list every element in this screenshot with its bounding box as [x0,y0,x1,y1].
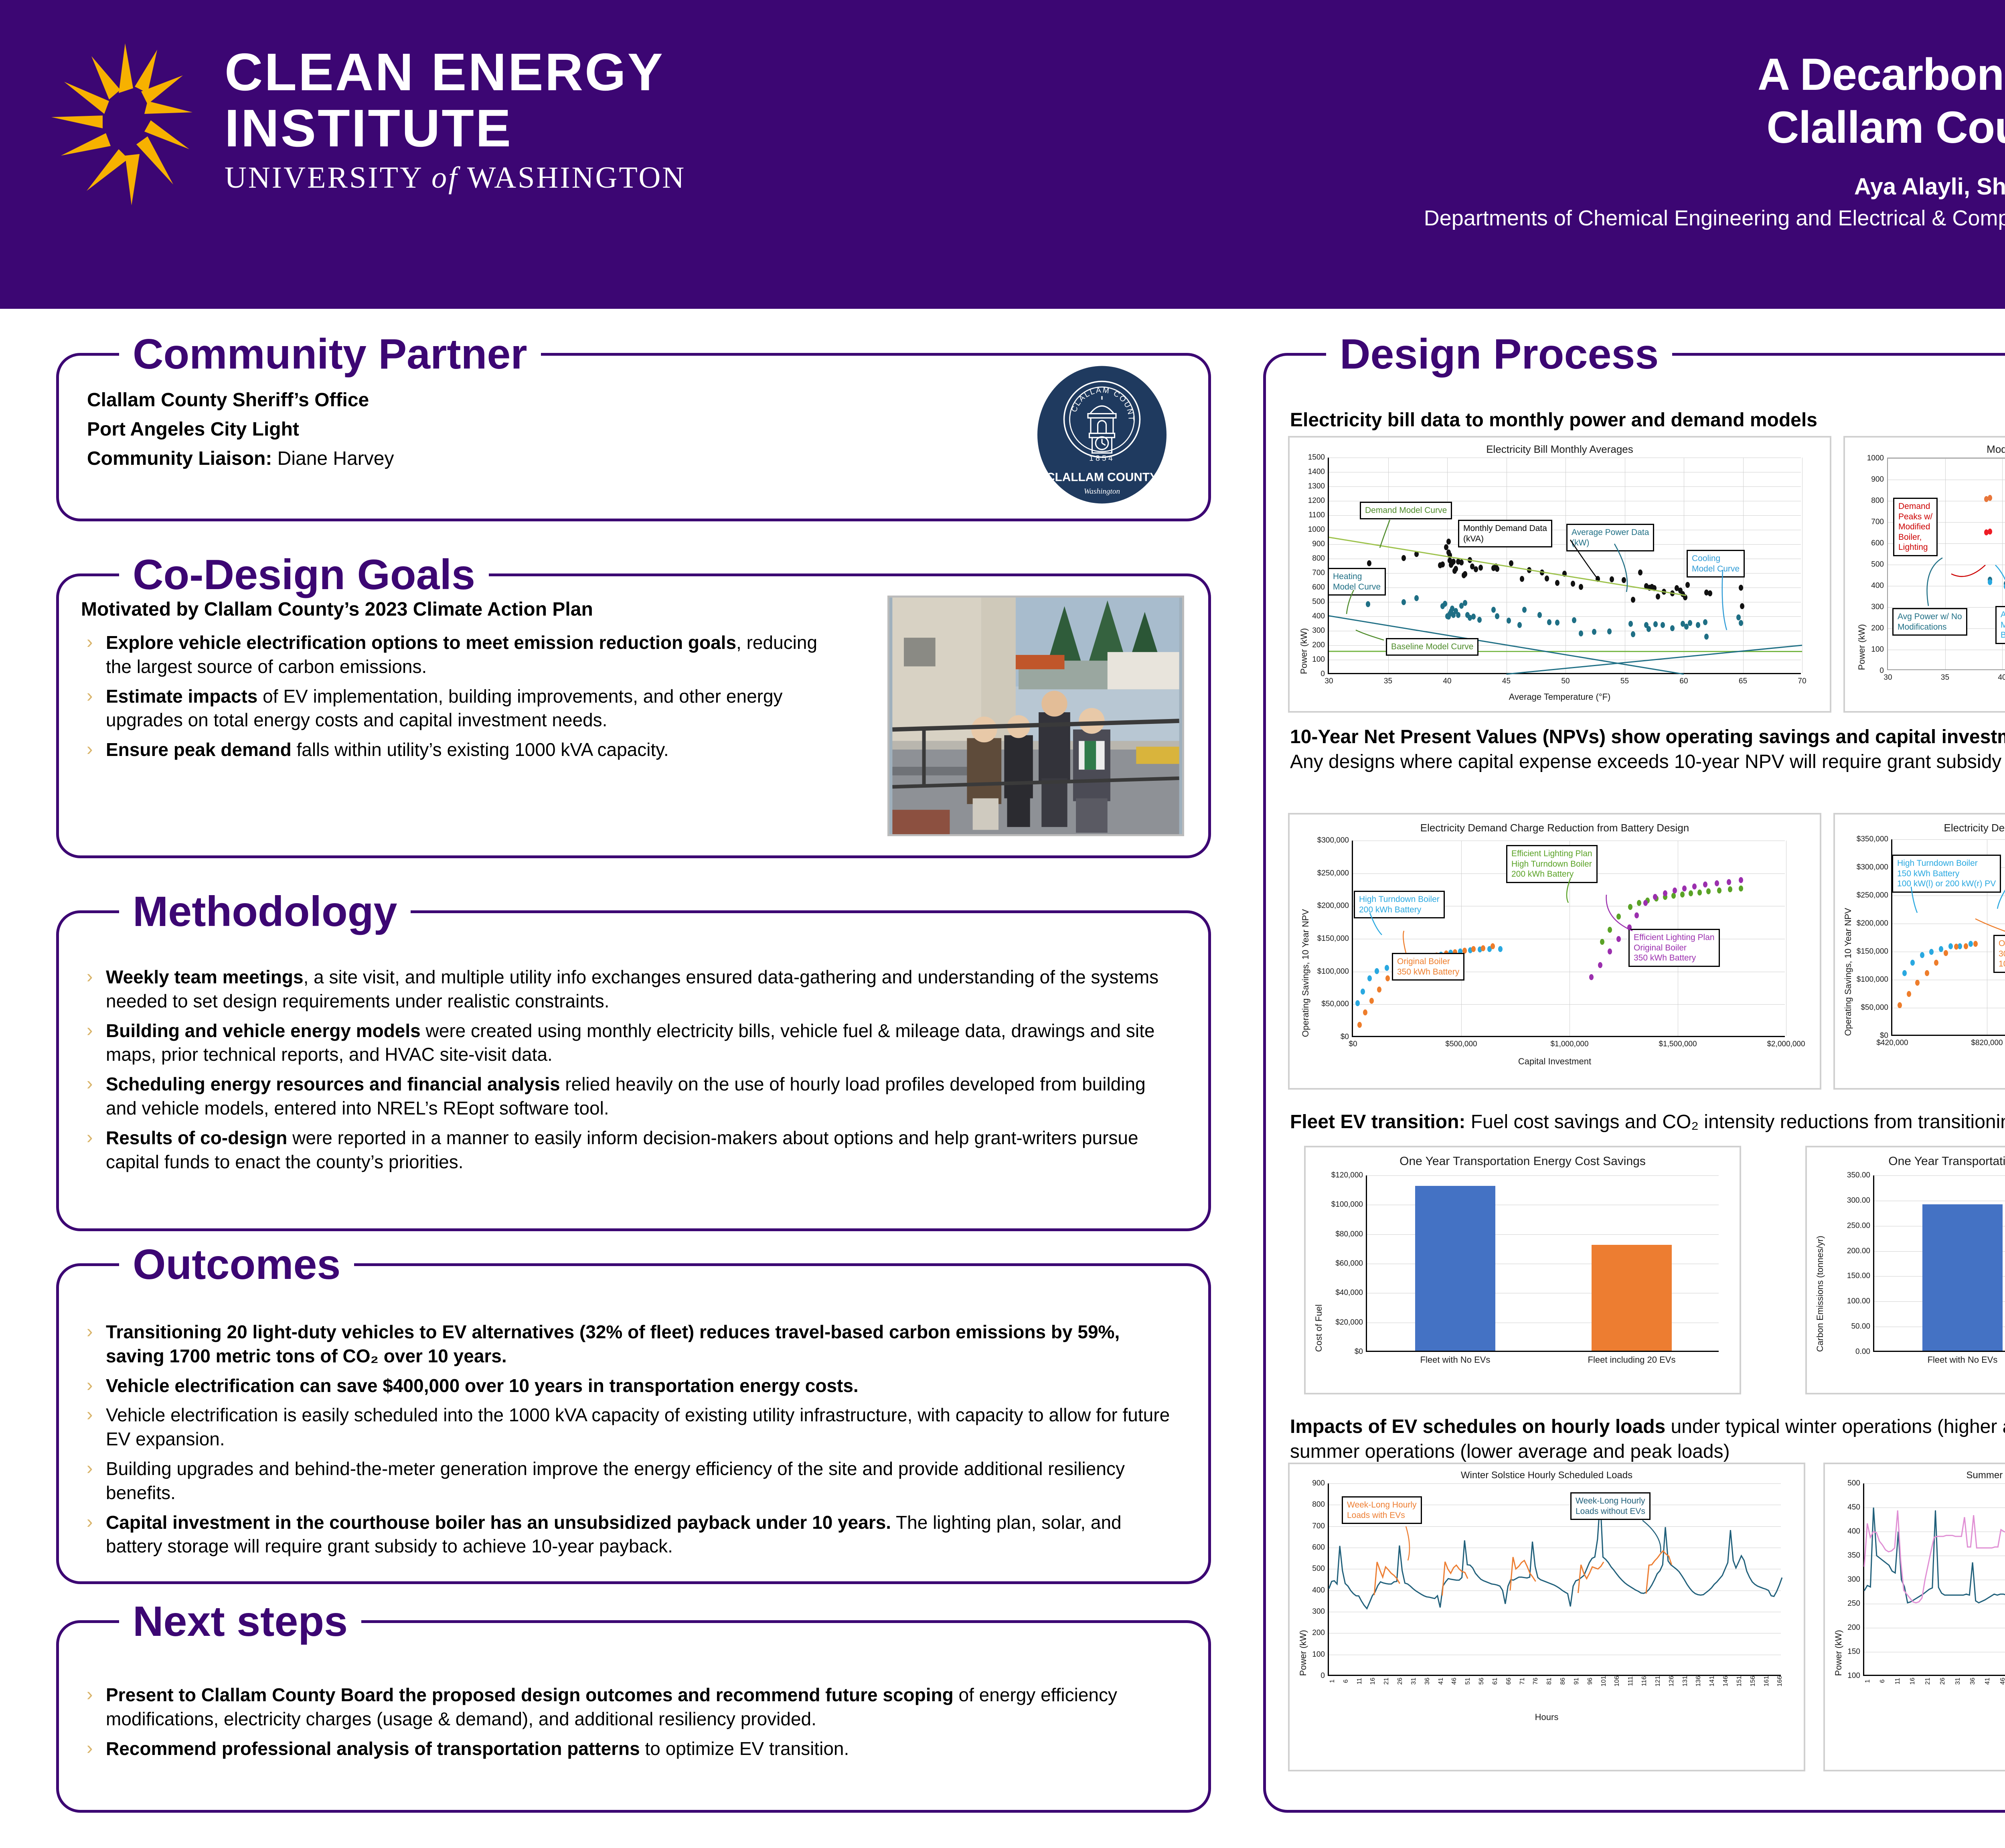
chart-callout: High Turndown Boiler 150 kWh Battery 100… [1892,855,2001,893]
y-tick-label: 900 [1312,540,1325,549]
y-axis-label: Carbon Emissions (tonnes/yr) [1815,1236,1825,1352]
y-tick-label: 400 [1312,1586,1325,1595]
x-tick-label: 121 [1655,1676,1662,1687]
y-tick-label: $150,000 [1857,947,1888,956]
chart-title: One Year Transportation Energy Cost Savi… [1306,1155,1740,1168]
y-axis-label: Power (kW) [1857,624,1867,670]
data-point [1988,579,1992,585]
gridline [1329,544,1801,545]
gridline [1329,1569,1781,1569]
x-tick-label: 111 [1627,1676,1634,1686]
svg-text:Washington: Washington [1084,487,1120,496]
gridline [1329,631,1801,631]
x-tick-label: 40 [1998,673,2005,682]
co-design-bullet-list: ›Explore vehicle electrification options… [81,631,843,762]
y-tick-label: 200 [1312,1629,1325,1637]
list-item: ›Scheduling energy resources and financi… [81,1072,1180,1121]
data-point [1547,619,1551,625]
data-point [1703,619,1707,625]
data-point [1471,614,1476,620]
y-tick-label: 1100 [1308,511,1325,520]
gridline [1329,616,1801,617]
data-point [1988,495,1992,501]
gridline [1888,458,2005,459]
data-point [1934,960,1938,966]
data-point [1647,626,1651,632]
y-tick-label: $300,000 [1857,863,1888,872]
data-point [1628,904,1632,910]
institute-name: CLEAN ENERGY INSTITUTE [225,44,826,156]
y-tick-label: 1500 [1308,453,1325,462]
data-point [1628,621,1633,627]
data-point [1610,576,1614,582]
x-tick-label: 35 [1941,673,1949,682]
y-tick-label: 300 [1871,603,1884,612]
x-tick-label: 141 [1709,1676,1716,1687]
y-tick-label: 1300 [1308,482,1325,491]
chart-demand-usage-charge-reduction-battery-pv: Electricity Demand & Usage Charge Reduct… [1833,813,2005,1090]
chart-title: Winter Solstice Hourly Scheduled Loads [1290,1470,1804,1481]
data-point [1491,943,1495,949]
gridline [1888,650,2005,650]
chart-callout: Avg Power w/ No Modifications [1892,608,1967,636]
svg-text:1854: 1854 [1089,454,1115,463]
chart-demand-charge-reduction-battery: Electricity Demand Charge Reduction from… [1288,813,1821,1090]
methodology-bullet-list: ›Weekly team meetings, a site visit, and… [81,965,1180,1174]
data-point [1670,625,1675,631]
data-point [1589,974,1594,980]
caption-bold: 10-Year Net Present Values (NPVs) show o… [1290,726,2005,748]
bullet-bold: Vehicle electrification can save $400,00… [106,1375,859,1396]
gridline [1566,458,1566,673]
data-point [1361,989,1365,995]
data-point [1622,577,1626,583]
x-tick-label: 116 [1641,1676,1648,1686]
y-tick-label: 100 [1312,655,1325,664]
x-tick-label: 46 [1451,1678,1458,1685]
gridline [1329,458,1801,458]
data-point [1680,892,1685,898]
x-tick-label: $820,000 [1971,1039,2003,1048]
x-tick-label: 36 [1424,1678,1431,1685]
x-tick-label: $500,000 [1445,1040,1477,1049]
x-tick-label: 156 [1750,1676,1757,1687]
gridline [1888,565,2005,565]
data-point [1915,980,1920,986]
caption-electricity-bill-models: Electricity bill data to monthly power a… [1290,408,2005,433]
y-tick-label: 500 [1312,1564,1325,1573]
data-point [1440,561,1445,567]
data-point [1944,950,1948,956]
gridline [1507,458,1507,673]
chart-callout: High Turndown Boiler 200 kWh Battery [1354,891,1445,918]
gridline [1892,839,2005,840]
gridline [1329,588,1801,588]
chevron-right-icon: › [87,965,93,989]
x-tick-label: 11 [1356,1678,1363,1685]
gridline [1684,458,1684,673]
data-point [1685,582,1690,588]
y-tick-label: 450 [1847,1503,1860,1512]
x-tick-label: 101 [1600,1676,1608,1687]
data-point [1463,571,1467,577]
x-axis-label: Capital Investment [1835,1055,2005,1066]
y-tick-label: 0 [1320,670,1325,679]
y-tick-label: 500 [1847,1479,1860,1488]
data-point [1495,566,1499,572]
panel-design-process: Design Process Electricity bill data to … [1263,353,2005,1813]
x-tick-label: 166 [1776,1676,1784,1687]
x-tick-label: 30 [1883,673,1892,682]
chevron-right-icon: › [87,1319,93,1343]
data-point [1637,900,1641,906]
gridline [1329,501,1801,501]
gridline [1802,458,1802,673]
data-point [1357,1022,1362,1028]
data-point [1696,622,1700,628]
data-point [1643,900,1648,906]
y-axis-label: Operating Savings, 10 Year NPV [1300,909,1311,1037]
data-point [1509,560,1513,566]
panel-heading-outcomes: Outcomes [119,1241,354,1288]
data-point [1739,885,1743,892]
data-point [1739,877,1743,883]
data-point [1652,585,1657,591]
gridline [1329,1591,1781,1591]
chart-callout: Original Boiler 300 kWh Battery 100 kW(l… [1993,935,2005,973]
bullet-bold: Estimate impacts [106,686,257,707]
next-steps-content: ›Present to Clallam County Board the pro… [81,1683,1180,1766]
y-axis-label: Power (kW) [1298,1630,1308,1676]
x-tick-label: 6 [1879,1680,1886,1683]
y-tick-label: 100.00 [1847,1297,1870,1306]
data-point [1727,879,1731,885]
x-tick-label: 36 [1969,1678,1977,1685]
x-tick-label: 131 [1682,1676,1689,1687]
page-title: A Decarbonization Blueprint for Clallam … [1116,48,2005,154]
gridline [1888,586,2005,586]
chevron-right-icon: › [87,1125,93,1149]
data-point [1948,943,1953,949]
data-point [1367,975,1372,981]
y-tick-label: 1000 [1867,454,1884,463]
list-item: ›Weekly team meetings, a site visit, and… [81,965,1180,1013]
y-tick-label: $100,000 [1331,1200,1363,1209]
gridline [1329,1548,1781,1548]
title-block: A Decarbonization Blueprint for Clallam … [1116,48,2005,231]
chart-callout: Original Boiler 350 kWh Battery [1392,953,1464,981]
data-point [1355,1000,1360,1006]
data-point [1662,589,1666,595]
y-axis-label: Power (kW) [1299,628,1309,674]
bullet-bold: Explore vehicle electrification options … [106,632,736,653]
x-tick-label: 106 [1614,1676,1621,1687]
y-tick-label: 500 [1871,560,1884,569]
data-point [1736,614,1741,620]
data-point [1920,952,1924,958]
y-tick-label: $150,000 [1317,934,1349,943]
institute-line-1: CLEAN ENERGY [225,44,826,100]
x-tick-label: $420,000 [1876,1039,1908,1048]
x-tick-label: 81 [1546,1678,1553,1685]
x-tick-label: 66 [1505,1678,1513,1685]
y-tick-label: 100 [1847,1672,1860,1680]
y-tick-label: 300 [1847,1575,1860,1584]
x-tick-label: $1,500,000 [1659,1040,1697,1049]
x-tick-label: 91 [1573,1678,1580,1685]
data-point [1704,634,1709,640]
data-point [1670,590,1675,596]
data-point [1459,559,1464,565]
panel-outcomes: Outcomes ›Transitioning 20 light-duty ve… [56,1263,1211,1584]
y-tick-label: 100 [1312,1650,1325,1659]
y-tick-label: 600 [1312,1543,1325,1552]
data-point [1520,576,1524,582]
data-point [1663,890,1667,896]
gridline [1864,1508,2005,1508]
y-tick-label: 400 [1312,612,1325,621]
bar [1415,1186,1495,1351]
data-point [1682,885,1687,892]
community-liaison: Community Liaison: Diane Harvey [87,444,394,474]
x-tick-label: 126 [1668,1676,1675,1687]
x-axis-label: Temperature (°F) [1845,689,2005,700]
clallam-county-seal-icon: CLALLAM COUNTY 1854 CLALLAM COUNTY Washi… [1032,365,1172,505]
x-tick-label: 31 [1954,1678,1962,1685]
panel-next-steps: Next steps ›Present to Clallam County Bo… [56,1620,1211,1813]
data-point [1366,601,1370,607]
community-liaison-name: Diane Harvey [272,448,394,469]
gridline [1864,1652,2005,1652]
data-point [1902,970,1907,976]
data-point [1363,1009,1367,1015]
y-tick-label: 200 [1312,641,1325,650]
data-point [1688,620,1692,626]
bullet-bold: Weekly team meetings [106,967,304,987]
chevron-right-icon: › [87,1682,93,1706]
community-liaison-label: Community Liaison: [87,448,272,469]
y-tick-label: 250.00 [1847,1222,1870,1230]
data-point [1527,567,1531,573]
chart-callout: Demand Peaks w/ Modified Boiler, Lightin… [1893,498,1938,556]
chart-callout: Efficient Lighting Plan High Turndown Bo… [1506,845,1598,883]
chart-callout: Week-Long Hourly Loads with EVs [1342,1496,1422,1524]
panel-heading-community-partner: Community Partner [119,331,541,378]
chevron-right-icon: › [87,1373,93,1397]
data-point [1572,617,1576,623]
plot-area: $0$20,000$40,000$60,000$80,000$100,000$1… [1366,1175,1719,1352]
data-point [1671,893,1676,899]
chart-summer-solstice-hourly-loads: Summer Solstice Hourly Scheduled Loads w… [1823,1463,2005,1771]
next-steps-bullet-list: ›Present to Clallam County Board the pro… [81,1683,1180,1761]
y-tick-label: 0 [1320,1672,1325,1680]
data-point [2004,584,2005,590]
x-tick-label: 30 [1325,677,1333,686]
gridline [1329,1526,1781,1527]
data-point [1954,944,1958,950]
data-point [1661,622,1665,628]
data-point [1477,617,1482,623]
gridline [1329,1633,1781,1633]
y-tick-label: $250,000 [1317,869,1349,878]
data-point [1540,569,1544,575]
y-tick-label: 800 [1312,1500,1325,1509]
y-tick-label: 1400 [1308,468,1325,476]
gridline [1864,1604,2005,1604]
x-tick-label: 31 [1410,1678,1418,1685]
data-point [1634,912,1639,918]
y-tick-label: $0 [1341,1033,1349,1042]
gridline [1353,1004,1785,1005]
x-axis-label: Hours [1825,1712,2005,1722]
data-point [1715,880,1719,886]
y-tick-label: $120,000 [1331,1171,1363,1180]
y-tick-label: $60,000 [1335,1259,1363,1268]
caption-bold: Impacts of EV schedules on hourly loads [1290,1416,1665,1437]
y-tick-label: 600 [1312,583,1325,592]
affiliation: Departments of Chemical Engineering and … [1116,206,2005,231]
panel-heading-next-steps: Next steps [119,1598,361,1645]
clean-energy-institute-logo: CLEAN ENERGY INSTITUTE UNIVERSITY of WAS… [48,28,830,269]
data-point [1616,936,1621,942]
y-tick-label: 200.00 [1847,1247,1870,1256]
bullet-rest: Building upgrades and behind-the-meter g… [106,1458,1125,1503]
data-point [1401,555,1406,561]
data-point [1463,600,1467,606]
y-tick-label: $250,000 [1857,891,1888,900]
data-point [1451,559,1456,565]
chart-modeled-average-monthly-power: Modeled Average Monthly Power, Modified … [1843,436,2005,713]
gridline [1888,480,2005,480]
data-point [1571,581,1575,587]
y-tick-label: $200,000 [1857,919,1888,928]
university-line: UNIVERSITY of WASHINGTON [225,160,826,195]
list-item: ›Vehicle electrification can save $400,0… [81,1374,1180,1398]
data-point [1443,601,1447,607]
chart-winter-solstice-hourly-loads: Winter Solstice Hourly Scheduled Loads01… [1288,1463,1805,1771]
gridline [1874,1175,2005,1176]
x-tick-label: 11 [1894,1678,1902,1685]
x-tick-label: 51 [1464,1678,1472,1685]
data-point [1579,630,1583,636]
caption-rest: Fuel cost savings and CO₂ intensity redu… [1465,1111,2005,1133]
x-axis-label: Capital Investment [1290,1056,1820,1067]
list-item: ›Explore vehicle electrification options… [81,631,843,679]
gridline [1864,1532,2005,1532]
gridline [1329,486,1801,487]
title-line-1: A Decarbonization Blueprint for [1116,48,2005,101]
data-point [1740,603,1744,609]
data-point [1517,622,1522,628]
list-item: ›Ensure peak demand falls within utility… [81,738,843,762]
x-tick-label: Fleet with No EVs [1928,1355,1998,1365]
chevron-right-icon: › [87,1402,93,1427]
gridline [1329,1655,1781,1655]
site-visit-photo [887,596,1184,836]
y-tick-label: $350,000 [1857,835,1888,844]
data-point [1369,998,1374,1004]
x-tick-label: 40 [1443,677,1451,686]
data-point [1683,594,1687,600]
list-item: ›Building and vehicle energy models were… [81,1019,1180,1067]
gridline [1625,458,1625,673]
list-item: ›Estimate impacts of EV implementation, … [81,685,843,733]
chart-transportation-energy-cost-savings: One Year Transportation Energy Cost Savi… [1304,1146,1741,1394]
y-tick-label: 300 [1312,626,1325,635]
y-tick-label: 800 [1871,496,1884,505]
co-design-lead: Motivated by Clallam County’s 2023 Clima… [81,598,843,620]
data-point [1478,565,1483,571]
data-point [1969,941,1973,947]
data-point [1545,575,1549,582]
y-tick-label: 250 [1847,1599,1860,1608]
svg-text:CLALLAM COUNTY: CLALLAM COUNTY [1046,471,1158,484]
institute-line-2: INSTITUTE [225,100,826,156]
caption-bold: Fleet EV transition: [1290,1111,1465,1133]
x-tick-label: 61 [1492,1678,1499,1685]
y-tick-label: $50,000 [1321,1000,1349,1009]
data-point [1616,914,1621,920]
data-point [1375,968,1379,974]
chevron-right-icon: › [87,1736,93,1760]
bar [1922,1204,2003,1351]
chart-callout: Heating Model Curve [1328,568,1386,596]
data-point [1673,888,1677,894]
x-tick-label: $1,000,000 [1550,1040,1588,1049]
data-point [1468,557,1472,563]
chart-title: Electricity Demand & Usage Charge Reduct… [1835,822,2005,834]
gridline [1329,530,1801,530]
x-tick-label: 146 [1722,1676,1730,1687]
data-point [1592,629,1596,635]
y-tick-label: 150 [1847,1647,1860,1656]
chart-electricity-bill-monthly-averages: Electricity Bill Monthly Averages0100200… [1288,436,1831,713]
chart-title: Electricity Demand Charge Reduction from… [1290,822,1820,834]
x-tick-label: 41 [1438,1678,1445,1685]
gridline [1864,1580,2005,1580]
chevron-right-icon: › [87,684,93,708]
x-tick-label: 1 [1329,1680,1336,1683]
gridline [1329,472,1801,472]
data-point [1414,551,1419,557]
data-point [1929,949,1934,955]
data-point [1537,612,1542,618]
x-tick-label: 56 [1478,1678,1485,1685]
list-item: ›Recommend professional analysis of tran… [81,1737,1180,1761]
x-tick-label: 45 [1502,677,1511,686]
y-tick-label: 500 [1312,598,1325,606]
chevron-right-icon: › [87,1018,93,1042]
caption-ev-schedule-impacts: Impacts of EV schedules on hourly loads … [1290,1414,2005,1465]
panel-co-design-goals: Co-Design Goals Motivated by Clallam Cou… [56,573,1211,858]
gridline [1892,952,2005,952]
gridline [1892,896,2005,896]
bullet-rest: Vehicle electrification is easily schedu… [106,1404,1170,1449]
data-point [1414,595,1419,601]
gridline [1786,841,1786,1036]
x-tick-label: Fleet including 20 EVs [1588,1355,1676,1365]
bullet-bold: Recommend professional analysis of trans… [106,1738,640,1759]
data-point [1607,628,1612,634]
data-point [1739,620,1743,626]
partner-item-0: Clallam County Sheriff’s Office [87,386,394,415]
data-point [1898,1002,1902,1008]
data-point [1522,607,1527,613]
y-tick-label: 0 [1879,667,1884,675]
data-point [1385,965,1389,971]
chart-callout: Cooling Model Curve [1687,550,1745,577]
x-tick-label: 26 [1939,1678,1946,1685]
